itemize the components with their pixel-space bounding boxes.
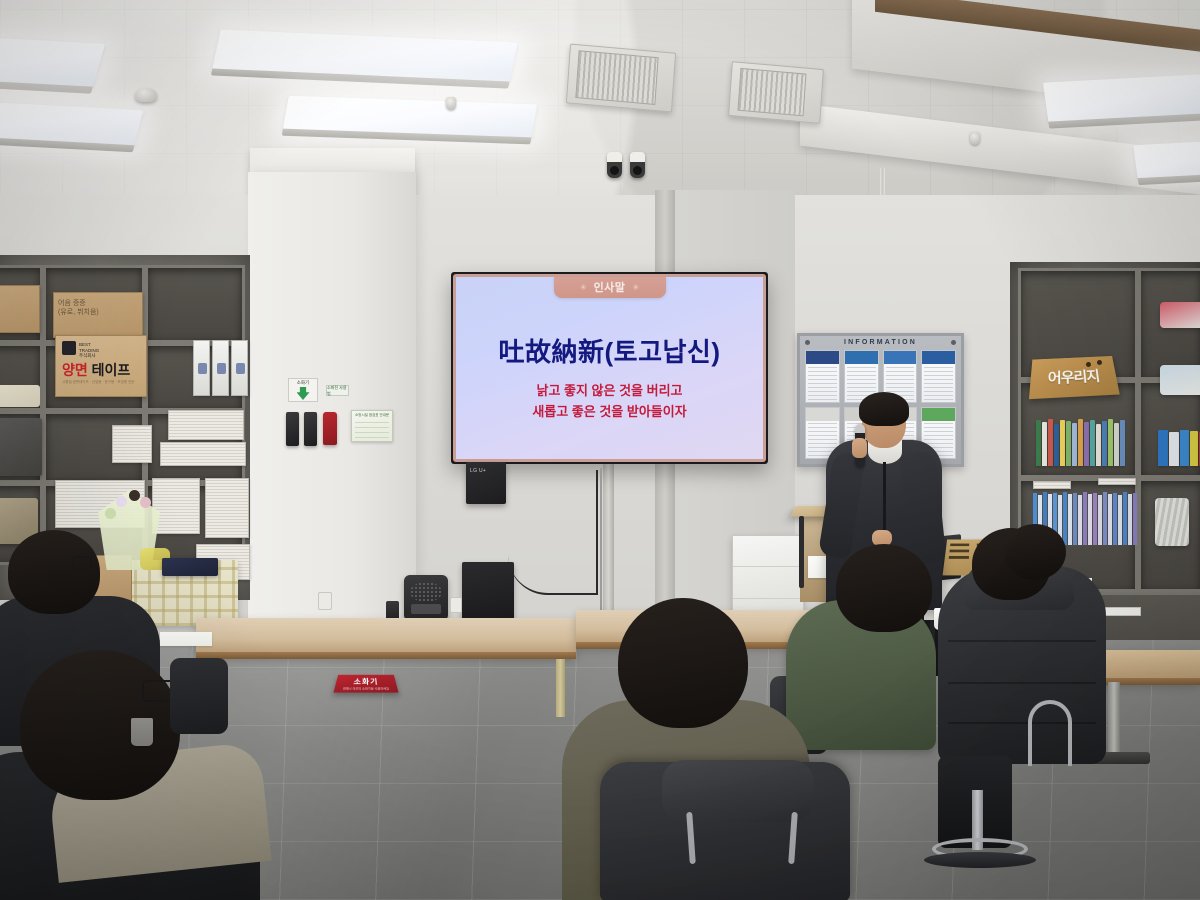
audience-far-right-head <box>1004 524 1066 580</box>
book <box>1180 430 1189 466</box>
knit-item <box>1160 302 1200 328</box>
book <box>1158 430 1168 466</box>
book <box>1108 419 1113 466</box>
book <box>1072 423 1077 466</box>
ceiling-light-panel <box>0 36 105 87</box>
set-top-box: LG U+ <box>466 462 506 504</box>
set-top-box-label: LG U+ <box>470 468 486 474</box>
rolled-material <box>1155 498 1189 546</box>
magazine <box>1118 495 1122 545</box>
podium-rail <box>799 516 804 588</box>
book <box>1042 422 1047 466</box>
tape-fine-print: 고품질 양면테이프 · 산업용 · 문구용 · 포장용 전문 <box>62 380 142 385</box>
presenter-hair <box>859 392 909 426</box>
table-leg <box>1108 682 1120 760</box>
book-row <box>1036 418 1125 466</box>
wall-mounted-extinguisher <box>304 412 317 446</box>
sprinkler-icon <box>446 97 456 110</box>
ceiling-light-panel <box>283 96 537 139</box>
ac-grille-icon <box>575 50 658 105</box>
slide-banner: ✳ 인사말 ✳ <box>554 276 666 298</box>
book <box>1114 423 1119 466</box>
notice-header <box>922 351 955 364</box>
notice-header <box>884 351 917 364</box>
magazine <box>1093 493 1097 545</box>
magazine <box>1113 493 1117 545</box>
book-row <box>1158 430 1200 466</box>
notice-body <box>808 366 837 399</box>
sprinkler-icon <box>970 132 980 145</box>
plaque-ornament <box>1086 362 1091 367</box>
stool-base <box>924 852 1036 868</box>
magazine <box>1123 492 1127 545</box>
shelf-cell <box>145 265 245 343</box>
portable-heater[interactable] <box>404 575 448 621</box>
plaque-ornament <box>1097 360 1102 365</box>
paper-stack <box>1098 478 1136 485</box>
audience-head <box>20 650 180 800</box>
banner-asterisk-icon: ✳ <box>580 283 587 292</box>
audience-head <box>618 598 748 728</box>
paper-stack <box>112 425 152 463</box>
folded-cloth <box>0 385 40 407</box>
flower <box>105 508 116 519</box>
book <box>1036 420 1041 466</box>
plaque-text: 어우리지 <box>1029 356 1120 399</box>
book <box>1084 422 1089 466</box>
red-emergency-tool <box>323 412 337 445</box>
award-slot <box>949 550 969 553</box>
security-camera-icon <box>630 152 645 178</box>
flower <box>140 497 151 508</box>
book <box>1060 420 1065 466</box>
magazine <box>1068 494 1072 545</box>
gift-box <box>162 558 218 576</box>
floor-marker-sublabel: 화재시 이곳의 소화기를 사용하세요 <box>343 686 390 690</box>
magazine <box>1073 493 1077 545</box>
eyeglasses <box>72 556 92 569</box>
magazine <box>1108 494 1112 545</box>
floor-extinguisher-marker: 소화기 화재시 이곳의 소화기를 사용하세요 <box>333 675 398 693</box>
slide-banner-label: 인사말 <box>594 279 626 295</box>
double-sided-tape-box: BEST TRADING 주식회사 양면 테이프 고품질 양면테이프 · 산업용… <box>55 335 147 397</box>
paper-stack <box>1033 481 1071 489</box>
knit-item <box>1160 365 1200 395</box>
ring-binder <box>193 340 210 396</box>
heater-grille-icon <box>410 582 442 602</box>
tape-product-black: 테이프 <box>88 362 131 378</box>
clear-cup <box>131 718 153 746</box>
book <box>1120 420 1125 466</box>
calligraphy-plaque: 어우리지 <box>1029 356 1120 399</box>
banner-asterisk-icon: ✳ <box>632 283 639 292</box>
ceiling-light-panel <box>1043 73 1200 122</box>
fire-extinguisher-arrow-icon <box>297 387 310 400</box>
magazine <box>1063 492 1067 545</box>
magazine <box>1078 495 1082 545</box>
paper-stack <box>168 410 244 440</box>
labeled-carton: 어음 증증 (유로, 뷔치음) <box>53 292 143 338</box>
paper-stack <box>160 442 246 466</box>
carton-label-line2: (유로, 뷔치음) <box>58 308 138 317</box>
jacket-seam <box>948 722 1096 724</box>
fire-extinguisher-sign-label: 소화기 <box>297 380 309 386</box>
tv-cable <box>508 470 598 595</box>
magazine <box>1133 493 1137 545</box>
jacket-seam <box>948 640 1096 642</box>
audience-head <box>836 544 932 632</box>
book <box>1190 431 1198 466</box>
book <box>1066 421 1071 466</box>
safety-guide-title: 소방시설 점검표 안내문 <box>355 413 389 418</box>
ac-diffuser <box>566 44 676 113</box>
ac-grille-icon <box>737 68 806 117</box>
table-edge <box>196 652 576 659</box>
heater-control-panel[interactable] <box>411 604 441 614</box>
cabinet-seam <box>733 566 803 567</box>
book <box>1096 424 1101 466</box>
notice-body <box>924 366 953 399</box>
wall-mounted-extinguisher <box>286 412 299 446</box>
flower <box>129 490 140 501</box>
ring-binder <box>231 340 248 396</box>
fire-extinguisher-sign: 소화기 <box>288 378 318 402</box>
tape-product-red: 양면 <box>62 362 88 378</box>
book <box>1090 420 1095 466</box>
wall-outlet[interactable] <box>450 597 462 613</box>
chair-backrest-arc <box>1028 700 1072 766</box>
book <box>1048 419 1053 466</box>
safety-guide-card: 소방시설 점검표 안내문 <box>351 410 393 442</box>
chair-backrest <box>170 658 228 734</box>
folded-fabric <box>0 418 42 476</box>
brand-logo-icon <box>62 341 76 355</box>
book <box>1054 424 1059 466</box>
handout-paper <box>160 632 212 646</box>
magazine <box>1098 495 1102 545</box>
award-slot <box>950 544 969 547</box>
notice-header <box>922 408 955 421</box>
storage-carton <box>0 285 40 333</box>
smoke-detector-icon <box>135 88 157 102</box>
conference-table <box>196 618 576 656</box>
book <box>1102 421 1107 466</box>
presentation-tv: ✳ 인사말 ✳ 吐故納新(토고납신) 낡고 좋지 않은 것을 버리고 새롭고 좋… <box>451 272 768 464</box>
cabinet-seam <box>733 598 803 599</box>
magazine <box>1083 492 1087 545</box>
book <box>1169 432 1179 466</box>
flower <box>116 496 127 507</box>
notice-header <box>806 408 839 421</box>
notice-header <box>845 351 878 364</box>
presentation-slide: ✳ 인사말 ✳ 吐故納新(토고납신) 낡고 좋지 않은 것을 버리고 새롭고 좋… <box>455 276 764 460</box>
magazine <box>1103 492 1107 545</box>
loudspeaker <box>462 562 514 620</box>
notice-item <box>805 350 840 403</box>
slide-title: 吐故納新(토고납신) <box>455 332 764 369</box>
wall-column <box>248 172 416 642</box>
meeting-room-photo: 어음 증증 (유로, 뷔치음) BEST TRADING 주식회사 양면 테이프… <box>0 0 1200 900</box>
jacket-seam <box>948 682 1096 684</box>
wall-outlet[interactable] <box>318 592 332 610</box>
audience-head <box>8 530 100 614</box>
board-pin-icon <box>951 340 956 345</box>
magazine <box>1128 494 1132 545</box>
ring-binder <box>212 340 229 396</box>
table-leg <box>556 659 565 717</box>
floor-marker-label: 소화기 <box>353 677 379 686</box>
presenter-hand-holding-mic <box>852 438 867 458</box>
security-camera-icon <box>607 152 622 178</box>
notice-item <box>921 350 956 403</box>
information-board-title: INFORMATION <box>800 339 961 346</box>
tv-cable <box>600 468 602 618</box>
ceiling-light-panel <box>1133 139 1200 179</box>
slide-subtitle-line1: 낡고 좋지 않은 것을 버리고 <box>455 380 764 401</box>
paper-stack <box>205 478 249 538</box>
magazine <box>1088 494 1092 545</box>
award-slot <box>949 556 969 559</box>
safety-guide-grid <box>355 419 389 438</box>
notice-header <box>806 351 839 364</box>
book <box>1078 419 1083 466</box>
ac-diffuser <box>728 61 824 124</box>
slide-subtitle-line2: 새롭고 좋은 것을 받아들이자 <box>455 401 764 422</box>
tape-brand-line3: 주식회사 <box>79 353 99 359</box>
carton-label-line1: 어음 증증 <box>58 299 138 308</box>
board-pin-icon <box>805 340 810 345</box>
paper-stack <box>152 478 200 534</box>
hydrant-usage-sign: 소화전 사용법 <box>326 385 349 396</box>
